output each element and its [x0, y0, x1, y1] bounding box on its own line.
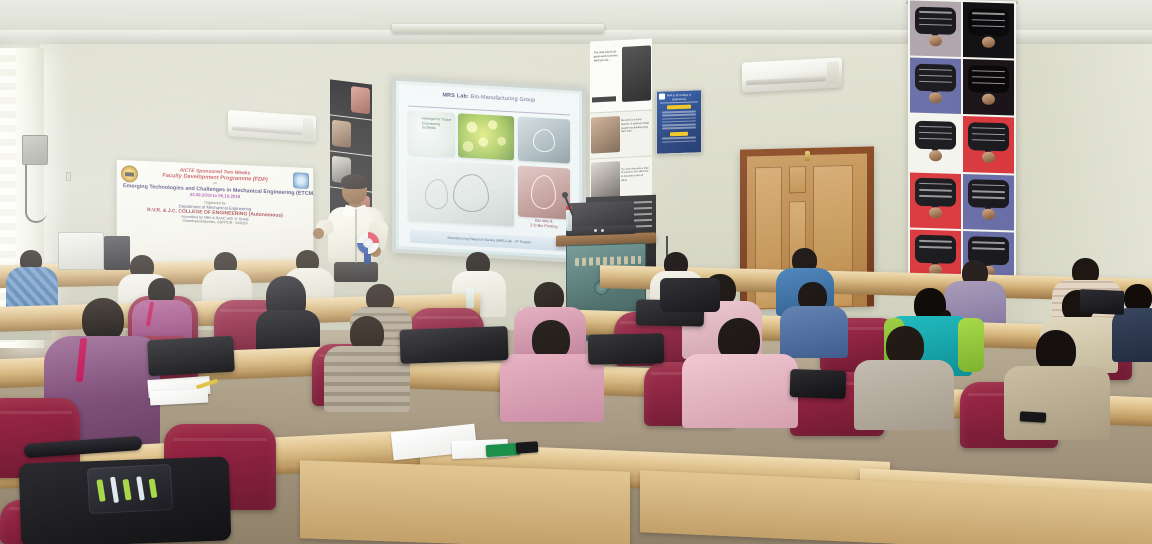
laptop-bag	[399, 326, 508, 364]
quote-card-1	[910, 1, 961, 58]
wall-speaker-icon	[22, 135, 48, 165]
quote-card-6	[963, 116, 1014, 173]
backpack-front-pocket	[87, 464, 173, 514]
backpack	[660, 278, 720, 312]
quote-card-4	[963, 59, 1014, 116]
projection-screen: MRS Lab: Bio-Manufacturing Group Hydroge…	[396, 81, 582, 259]
water-bottle	[466, 288, 474, 308]
mobile-phone-black[interactable]	[1020, 411, 1046, 422]
presentation-slide: MRS Lab: Bio-Manufacturing Group Hydroge…	[399, 84, 579, 256]
laptop-bag	[588, 333, 665, 364]
hydrogel-scaffold-image: Hydrogel for Tissue Engineering Scaffold…	[408, 110, 455, 156]
window-sill	[0, 330, 52, 340]
presenter-speaker	[316, 176, 398, 280]
einstein-quote-text: Try not to become a man of success, but …	[621, 166, 650, 182]
college-seal-icon	[121, 165, 138, 183]
bioprinted-ear-wide-image	[408, 159, 514, 226]
aicte-logo-icon	[293, 172, 309, 189]
desk-front-panel	[300, 460, 630, 544]
laptop-indicator-icon	[601, 229, 604, 232]
monitor-screen	[1080, 289, 1124, 315]
motivational-poster-2	[330, 115, 372, 156]
seminar-hall-photo: MRS Lab: Bio-Manufacturing Group Hydroge…	[0, 0, 1152, 544]
motivational-poster-1	[330, 79, 372, 120]
speaker-cable	[25, 165, 47, 223]
plaque-logo-icon	[659, 93, 665, 99]
quote-card-7	[910, 172, 961, 229]
mobile-phone-black[interactable]	[516, 441, 539, 454]
projection-screen-housing	[392, 24, 604, 33]
slide-footer-text: Manufacturing Research Society (MRS) Lab…	[410, 230, 568, 252]
microphone-icon	[562, 192, 568, 198]
door-handle-icon[interactable]	[805, 151, 810, 161]
green-cell-culture-image	[458, 113, 514, 160]
quote-card-3	[910, 58, 961, 115]
slide-bioink-caption: Bio Inks & 3-D Bio Printing	[514, 217, 573, 230]
famous-quotes-grid-banner	[908, 0, 1016, 290]
laptop-bag	[147, 336, 235, 376]
jobs-quote-text: The only way to do great work is to love…	[594, 50, 622, 64]
plaque-title: RVR & JC College of Engineering	[660, 93, 698, 104]
cpu-tower	[104, 236, 130, 270]
event-banner: AICTE Sponsored Two Weeks Faculty Develo…	[116, 159, 314, 270]
bioprinted-ear-grey-image	[518, 117, 570, 164]
gates-quote-text: Success is a lousy teacher. It seduces s…	[621, 118, 650, 134]
air-conditioner-icon	[742, 57, 842, 92]
quote-card-8	[963, 174, 1014, 231]
slide-title: MRS Lab: Bio-Manufacturing Group	[412, 91, 567, 106]
slide-cell1-label: Hydrogel for Tissue Engineering Scaffold…	[422, 116, 455, 132]
einstein-portrait	[591, 161, 620, 200]
wall-outlet	[66, 172, 71, 181]
printer-equipment	[58, 232, 104, 270]
laptop-indicator-icon	[594, 229, 597, 232]
steve-jobs-portrait	[622, 46, 651, 103]
bill-gates-quote-poster: Success is a lousy teacher. It seduces s…	[590, 110, 652, 159]
wall-plaque: RVR & JC College of Engineering	[656, 89, 702, 155]
quote-card-2	[963, 2, 1014, 59]
steve-jobs-quote-poster: The only way to do great work is to love…	[590, 38, 652, 113]
bill-gates-portrait	[591, 116, 620, 153]
laptop-bag	[790, 369, 847, 399]
slide-footer-bar: Manufacturing Research Society (MRS) Lab…	[410, 230, 568, 252]
saree-shawl	[958, 318, 984, 372]
quote-card-5	[910, 115, 961, 172]
